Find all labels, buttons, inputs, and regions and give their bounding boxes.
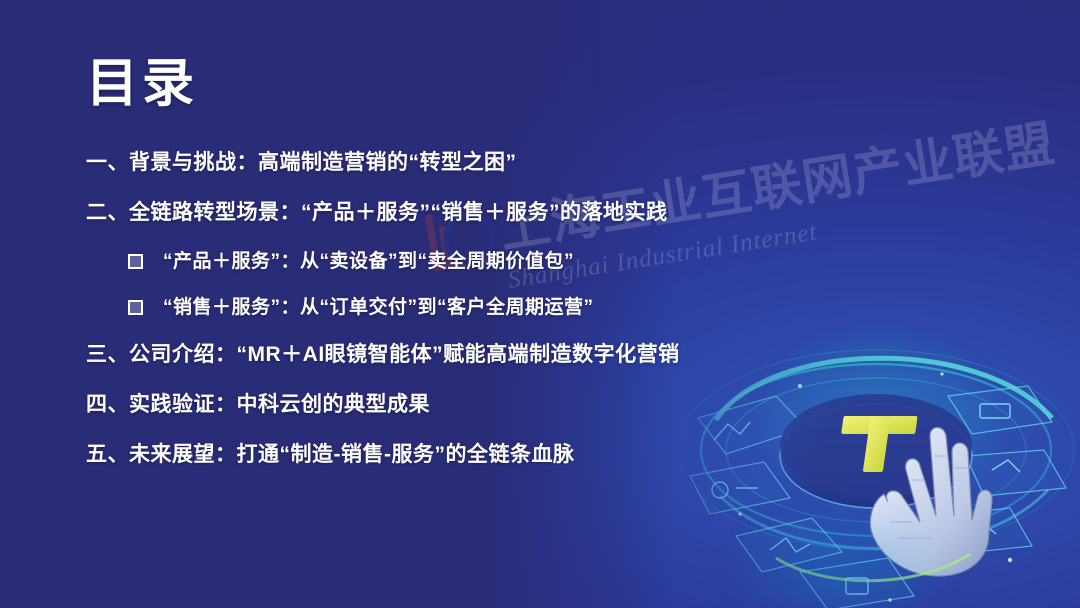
table-of-contents: 一、背景与挑战：高端制造营销的“转型之困” 二、全链路转型场景：“产品＋服务”“…	[86, 152, 866, 494]
page-title: 目录	[86, 58, 198, 110]
toc-subitem-label: “销售＋服务”：从“订单交付”到“客户全周期运营”	[163, 298, 594, 317]
toc-subitem-2-1[interactable]: “产品＋服务”：从“卖设备”到“卖全周期价值包”	[128, 252, 866, 271]
toc-subitem-2-2[interactable]: “销售＋服务”：从“订单交付”到“客户全周期运营”	[128, 298, 866, 317]
toc-item-2[interactable]: 二、全链路转型场景：“产品＋服务”“销售＋服务”的落地实践	[86, 202, 866, 223]
toc-subitem-label: “产品＋服务”：从“卖设备”到“卖全周期价值包”	[163, 252, 574, 271]
toc-item-3[interactable]: 三、公司介绍：“MR＋AI眼镜智能体”赋能高端制造数字化营销	[86, 344, 866, 365]
toc-item-5[interactable]: 五、未来展望：打通“制造-销售-服务”的全链条血脉	[86, 444, 866, 465]
square-bullet-icon	[128, 300, 143, 315]
toc-item-4[interactable]: 四、实践验证：中科云创的典型成果	[86, 394, 866, 415]
presentation-slide: 上海工业互联网产业联盟 Shanghai Industrial Internet…	[0, 0, 1080, 608]
toc-item-1[interactable]: 一、背景与挑战：高端制造营销的“转型之困”	[86, 152, 866, 173]
square-bullet-icon	[128, 254, 143, 269]
